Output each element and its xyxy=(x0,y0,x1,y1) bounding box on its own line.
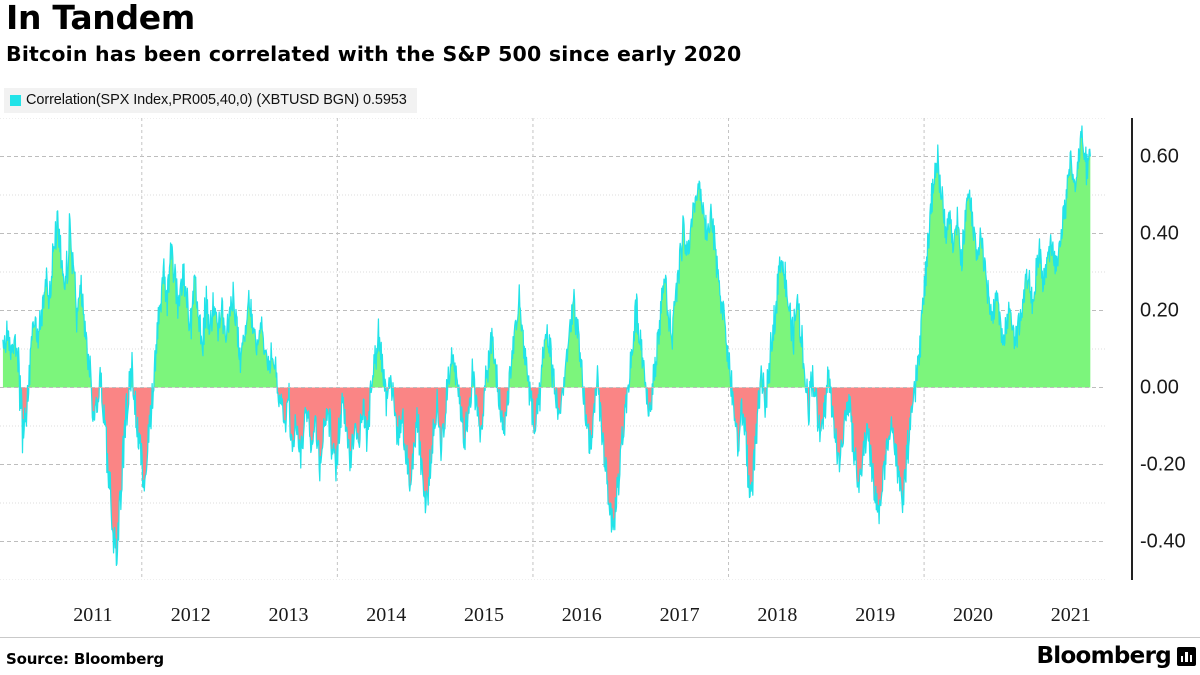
y-axis-major-tick xyxy=(1132,537,1133,547)
y-axis-tick-label: 0.40 xyxy=(1140,222,1179,245)
legend-label: Correlation(SPX Index,PR005,40,0) (XBTUS… xyxy=(26,92,407,108)
page-subtitle: Bitcoin has been correlated with the S&P… xyxy=(6,41,741,67)
y-axis-major-tick xyxy=(1132,306,1133,316)
footer-divider xyxy=(0,637,1200,638)
negative-area xyxy=(599,388,628,532)
x-axis-tick-label: 2014 xyxy=(366,604,406,627)
chart-page: In Tandem Bitcoin has been correlated wi… xyxy=(0,0,1200,675)
y-axis-tick-label: -0.20 xyxy=(1140,453,1186,476)
x-axis-tick-label: 2015 xyxy=(464,604,504,627)
y-axis-major-tick xyxy=(1132,152,1133,162)
bloomberg-brand: Bloomberg xyxy=(1036,644,1196,669)
x-axis-tick-label: 2021 xyxy=(1051,604,1091,627)
x-axis-tick-label: 2013 xyxy=(269,604,309,627)
source-label: Source: Bloomberg xyxy=(6,650,164,668)
brand-text: Bloomberg xyxy=(1036,644,1171,669)
x-axis: 2011201220132014201520162017201820192020… xyxy=(0,604,1200,634)
x-axis-tick-label: 2020 xyxy=(953,604,993,627)
y-axis: 0.600.400.200.00-0.20-0.40 xyxy=(1140,118,1200,580)
positive-area xyxy=(916,126,1090,388)
y-axis-tick-label: 0.20 xyxy=(1140,299,1179,322)
y-axis-tick-label: 0.60 xyxy=(1140,145,1179,168)
x-axis-tick-label: 2011 xyxy=(73,604,112,627)
correlation-chart-plot xyxy=(0,118,1133,580)
x-axis-tick-label: 2018 xyxy=(757,604,797,627)
legend-swatch-icon xyxy=(10,95,21,106)
y-axis-major-tick xyxy=(1132,229,1133,239)
x-axis-tick-label: 2016 xyxy=(562,604,602,627)
x-axis-tick-label: 2012 xyxy=(171,604,211,627)
chart-svg xyxy=(0,118,1133,580)
page-title: In Tandem xyxy=(6,0,195,38)
y-axis-major-tick xyxy=(1132,460,1133,470)
chart-legend[interactable]: Correlation(SPX Index,PR005,40,0) (XBTUS… xyxy=(4,88,417,113)
bloomberg-logo-icon xyxy=(1177,647,1196,666)
y-axis-tick-label: 0.00 xyxy=(1140,376,1179,399)
x-axis-tick-label: 2017 xyxy=(660,604,700,627)
y-axis-major-tick xyxy=(1132,383,1133,393)
x-axis-tick-label: 2019 xyxy=(855,604,895,627)
y-axis-tick-label: -0.40 xyxy=(1140,530,1186,553)
